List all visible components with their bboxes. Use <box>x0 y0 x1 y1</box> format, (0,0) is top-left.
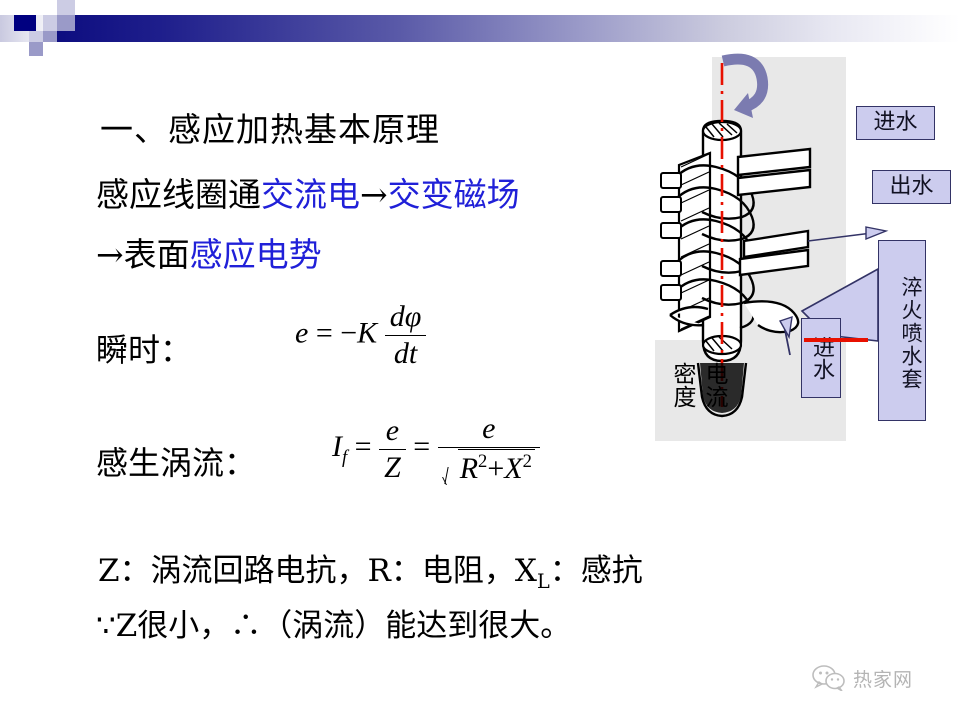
formula2-fraction-2: e R2+X2 <box>438 412 540 486</box>
red-emphasis-line <box>804 338 868 342</box>
watermark: 热家网 <box>812 660 942 696</box>
formula2-frac2-denominator: R2+X2 <box>438 448 540 486</box>
line2-highlight-ac: 交流电 <box>261 175 360 214</box>
def-x-symbol: X <box>515 553 537 589</box>
def-z-text: 涡流回路电抗， <box>151 553 368 589</box>
banner-gradient-bar <box>56 15 960 42</box>
line3-prefix: 表面 <box>124 235 190 274</box>
banner-square-5 <box>29 31 43 42</box>
formula1-minus: − <box>340 316 357 349</box>
def-r-text: 电阻， <box>422 553 515 589</box>
def-x-sep: ： <box>550 553 581 589</box>
formula2-fraction-1: e Z <box>379 414 406 485</box>
symbol-definitions: Z：涡流回路电抗，R：电阻，XL：感抗 <box>98 545 643 593</box>
formula2-x-exponent: 2 <box>523 451 532 472</box>
formula2-equals-1: = <box>355 430 372 463</box>
line2-arrow: → <box>360 175 388 214</box>
formula1-equals: = <box>316 316 333 349</box>
formula1-numerator: dφ <box>385 300 427 336</box>
formula2-r: R <box>460 452 478 485</box>
banner-square-6 <box>43 31 57 42</box>
square-root-icon: R2+X2 <box>443 449 535 486</box>
formula2-x: X <box>504 452 522 485</box>
formula1-fraction: dφ dt <box>385 300 427 371</box>
formula1-k: K <box>357 316 377 349</box>
formula2-i-subscript: f <box>342 447 347 468</box>
page-title: 一、感应加热基本原理 <box>100 103 440 151</box>
formula2-frac1-numerator: e <box>379 414 406 450</box>
line2-highlight-field: 交变磁场 <box>388 175 520 214</box>
formula-instant-emf: e = −K dφ dt <box>295 300 426 371</box>
def-x-subscript: L <box>537 570 550 593</box>
line2-prefix: 感应线圈通 <box>96 175 261 214</box>
formula2-frac1-denominator: Z <box>379 450 406 485</box>
line3-arrow: → <box>96 235 124 274</box>
instant-emf-label: 瞬时： <box>96 325 192 371</box>
watermark-text: 热家网 <box>853 665 913 692</box>
leader-line-outlet <box>808 233 872 241</box>
rotation-arrow-icon <box>723 59 763 118</box>
def-z-symbol: Z <box>98 553 120 589</box>
callout-water-inlet-top: 进水 <box>856 106 935 140</box>
label-density: 密度 <box>668 362 695 408</box>
label-current: 电流 <box>700 362 727 408</box>
callout-water-inlet-bottom: 进水 <box>801 318 841 398</box>
formula2-equals-2: = <box>413 430 430 463</box>
line3-highlight-emf: 感应电势 <box>190 235 322 274</box>
def-x-text: 感抗 <box>581 553 643 589</box>
formula2-plus: + <box>487 452 504 485</box>
banner-square-3 <box>43 15 57 31</box>
def-r-symbol: R <box>368 553 391 589</box>
banner-square-4 <box>57 15 75 31</box>
conclusion-line: ∵Z很小，∴（涡流）能达到很大。 <box>96 600 571 645</box>
wechat-icon <box>812 665 846 691</box>
def-z-sep: ： <box>120 553 151 589</box>
leader-arrow-outlet <box>866 227 886 239</box>
principle-line-3: →表面感应电势 <box>96 228 322 276</box>
formula2-i: I <box>332 430 342 463</box>
formula-eddy-current: If = e Z = e R2+X2 <box>332 412 540 486</box>
banner-square-1 <box>57 0 75 15</box>
formula2-radicand: R2+X2 <box>458 449 535 486</box>
formula2-frac2-numerator: e <box>438 412 540 448</box>
water-inlet-pipes <box>738 149 810 195</box>
banner-square-7 <box>29 42 43 56</box>
hardened-layer-section <box>679 153 710 331</box>
callout-water-outlet: 出水 <box>872 170 951 204</box>
formula1-denominator: dt <box>385 336 427 371</box>
principle-line-2: 感应线圈通交流电→交变磁场 <box>96 168 520 216</box>
eddy-current-label: 感生涡流： <box>96 438 256 484</box>
banner-square-2 <box>14 15 36 31</box>
callout-quench-spray-jacket: 淬火喷水套 <box>878 240 926 421</box>
formula1-e: e <box>295 316 308 349</box>
water-outlet-pipes <box>740 231 808 275</box>
formula2-r-exponent: 2 <box>478 451 487 472</box>
def-r-sep: ： <box>391 553 422 589</box>
